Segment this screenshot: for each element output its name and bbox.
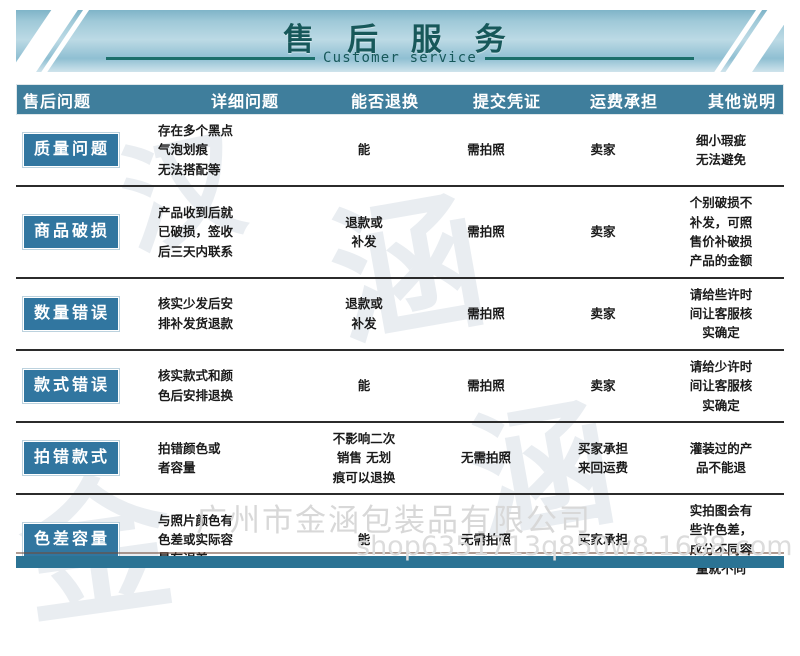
cell-line: 退款或	[308, 213, 420, 232]
cell-line: 需拍照	[428, 222, 544, 241]
cell-line: 细小瑕疵	[662, 131, 780, 150]
cell-line: 补发，可照	[662, 213, 780, 232]
banner-subtitle-row: Customer service	[16, 50, 784, 66]
cell-line: 品不能退	[662, 458, 780, 477]
cell-line: 已破损，签收	[158, 222, 300, 241]
cell-line: 无法避免	[662, 150, 780, 169]
cell-line: 买家承担	[552, 439, 654, 458]
cell-issue: 拍错款式	[16, 434, 144, 482]
cell-proof: 需拍照	[424, 298, 548, 329]
column-header-issue: 售后问题	[17, 88, 151, 112]
bottom-bar	[16, 556, 784, 568]
cell-line: 需拍照	[428, 376, 544, 395]
cell-line: 个别破损不	[662, 193, 780, 212]
cell-detail: 核实少发后安排补发货退款	[144, 288, 304, 339]
cell-line: 能	[308, 140, 420, 159]
cell-issue: 数量错误	[16, 290, 144, 338]
cell-line: 核实款式和颜	[158, 366, 300, 385]
cell-line: 销售 无划	[308, 448, 420, 467]
cell-notes: 请给些许时间让客服核实确定	[658, 279, 784, 349]
banner-subtitle: Customer service	[323, 50, 477, 66]
column-header-returnable: 能否退换	[325, 88, 445, 112]
cell-line: 产品收到后就	[158, 203, 300, 222]
table-row: 质量问题存在多个黑点气泡划痕无法搭配等能需拍照卖家细小瑕疵无法避免	[16, 115, 784, 185]
cell-proof: 需拍照	[424, 370, 548, 401]
cell-line: 补发	[308, 232, 420, 251]
banner-rule-right	[485, 57, 694, 60]
page-banner: 售 后 服 务 Customer service	[16, 10, 784, 72]
table-row: 数量错误核实少发后安排补发货退款退款或补发需拍照卖家请给些许时间让客服核实确定	[16, 277, 784, 349]
after-sales-table: 售后问题 详细问题 能否退换 提交凭证 运费承担 其他说明 质量问题存在多个黑点…	[16, 84, 784, 585]
cell-notes: 请给少许时间让客服核实确定	[658, 351, 784, 421]
cell-notes: 灌装过的产品不能退	[658, 433, 784, 484]
cell-line: 与照片颜色有	[158, 511, 300, 530]
cell-line: 排补发货退款	[158, 314, 300, 333]
cell-shipping: 买家承担来回运费	[548, 433, 658, 484]
column-header-notes: 其他说明	[679, 88, 800, 112]
issue-badge: 拍错款式	[22, 440, 120, 476]
cell-detail: 产品收到后就已破损，签收后三天内联系	[144, 197, 304, 267]
cell-line: 售价补破损	[662, 232, 780, 251]
cell-returnable: 退款或补发	[304, 207, 424, 258]
cell-line: 需拍照	[428, 140, 544, 159]
cell-returnable: 能	[304, 370, 424, 401]
cell-line: 色差或实际容	[158, 530, 300, 549]
table-row: 色差容量与照片颜色有色差或实际容量有误差能无需拍照买家承担实拍图会有些许色差，成…	[16, 493, 784, 585]
cell-line: 核实少发后安	[158, 294, 300, 313]
cell-proof: 无需拍照	[424, 442, 548, 473]
cell-line: 拍错颜色或	[158, 439, 300, 458]
cell-returnable: 能	[304, 134, 424, 165]
cell-line: 无需拍照	[428, 448, 544, 467]
cell-line: 者容量	[158, 458, 300, 477]
cell-shipping: 买家承担	[548, 524, 658, 555]
cell-line: 请给少许时	[662, 357, 780, 376]
cell-returnable: 能	[304, 524, 424, 555]
cell-proof: 需拍照	[424, 216, 548, 247]
cell-line: 无法搭配等	[158, 160, 300, 179]
table-row: 款式错误核实款式和颜色后安排退换能需拍照卖家请给少许时间让客服核实确定	[16, 349, 784, 421]
cell-line: 卖家	[552, 222, 654, 241]
column-header-shipping: 运费承担	[569, 88, 679, 112]
cell-shipping: 卖家	[548, 216, 658, 247]
cell-line: 需拍照	[428, 304, 544, 323]
cell-line: 卖家	[552, 376, 654, 395]
cell-line: 产品的金额	[662, 251, 780, 270]
cell-line: 间让客服核	[662, 376, 780, 395]
cell-line: 来回运费	[552, 458, 654, 477]
cell-line: 气泡划痕	[158, 140, 300, 159]
cell-returnable: 退款或补发	[304, 288, 424, 339]
cell-proof: 需拍照	[424, 134, 548, 165]
cell-line: 能	[308, 376, 420, 395]
cell-line: 补发	[308, 314, 420, 333]
cell-line: 不影响二次	[308, 429, 420, 448]
cell-detail: 拍错颜色或者容量	[144, 433, 304, 484]
table-row: 拍错款式拍错颜色或者容量不影响二次销售 无划痕可以退换无需拍照买家承担来回运费灌…	[16, 421, 784, 493]
cell-line: 卖家	[552, 140, 654, 159]
cell-line: 能	[308, 530, 420, 549]
cell-line: 间让客服核	[662, 304, 780, 323]
cell-line: 请给些许时	[662, 285, 780, 304]
column-header-proof: 提交凭证	[445, 88, 569, 112]
cell-line: 存在多个黑点	[158, 121, 300, 140]
issue-badge: 质量问题	[22, 132, 120, 168]
cell-shipping: 卖家	[548, 370, 658, 401]
cell-line: 些许色差，	[662, 520, 780, 539]
cell-issue: 款式错误	[16, 362, 144, 410]
cell-line: 灌装过的产	[662, 439, 780, 458]
cell-shipping: 卖家	[548, 298, 658, 329]
cell-returnable: 不影响二次销售 无划痕可以退换	[304, 423, 424, 493]
cell-line: 卖家	[552, 304, 654, 323]
cell-shipping: 卖家	[548, 134, 658, 165]
cell-line: 实拍图会有	[662, 501, 780, 520]
table-header-row: 售后问题 详细问题 能否退换 提交凭证 运费承担 其他说明	[16, 84, 784, 115]
issue-badge: 数量错误	[22, 296, 120, 332]
cell-line: 后三天内联系	[158, 242, 300, 261]
column-header-detail: 详细问题	[151, 88, 325, 112]
cell-line: 痕可以退换	[308, 468, 420, 487]
cell-line: 买家承担	[552, 530, 654, 549]
table-body: 质量问题存在多个黑点气泡划痕无法搭配等能需拍照卖家细小瑕疵无法避免商品破损产品收…	[16, 115, 784, 585]
cell-line: 实确定	[662, 323, 780, 342]
cell-line: 无需拍照	[428, 530, 544, 549]
cell-detail: 存在多个黑点气泡划痕无法搭配等	[144, 115, 304, 185]
bottom-rule	[16, 552, 784, 554]
cell-line: 色后安排退换	[158, 386, 300, 405]
cell-line: 退款或	[308, 294, 420, 313]
cell-notes: 个别破损不补发，可照售价补破损产品的金额	[658, 187, 784, 277]
table-row: 商品破损产品收到后就已破损，签收后三天内联系退款或补发需拍照卖家个别破损不补发，…	[16, 185, 784, 277]
cell-notes: 细小瑕疵无法避免	[658, 125, 784, 176]
cell-notes: 实拍图会有些许色差，成分不同容量就不同	[658, 495, 784, 585]
issue-badge: 款式错误	[22, 368, 120, 404]
cell-issue: 商品破损	[16, 208, 144, 256]
banner-rule-left	[106, 57, 315, 60]
cell-proof: 无需拍照	[424, 524, 548, 555]
issue-badge: 商品破损	[22, 214, 120, 250]
cell-line: 实确定	[662, 396, 780, 415]
cell-issue: 质量问题	[16, 126, 144, 174]
cell-detail: 核实款式和颜色后安排退换	[144, 360, 304, 411]
